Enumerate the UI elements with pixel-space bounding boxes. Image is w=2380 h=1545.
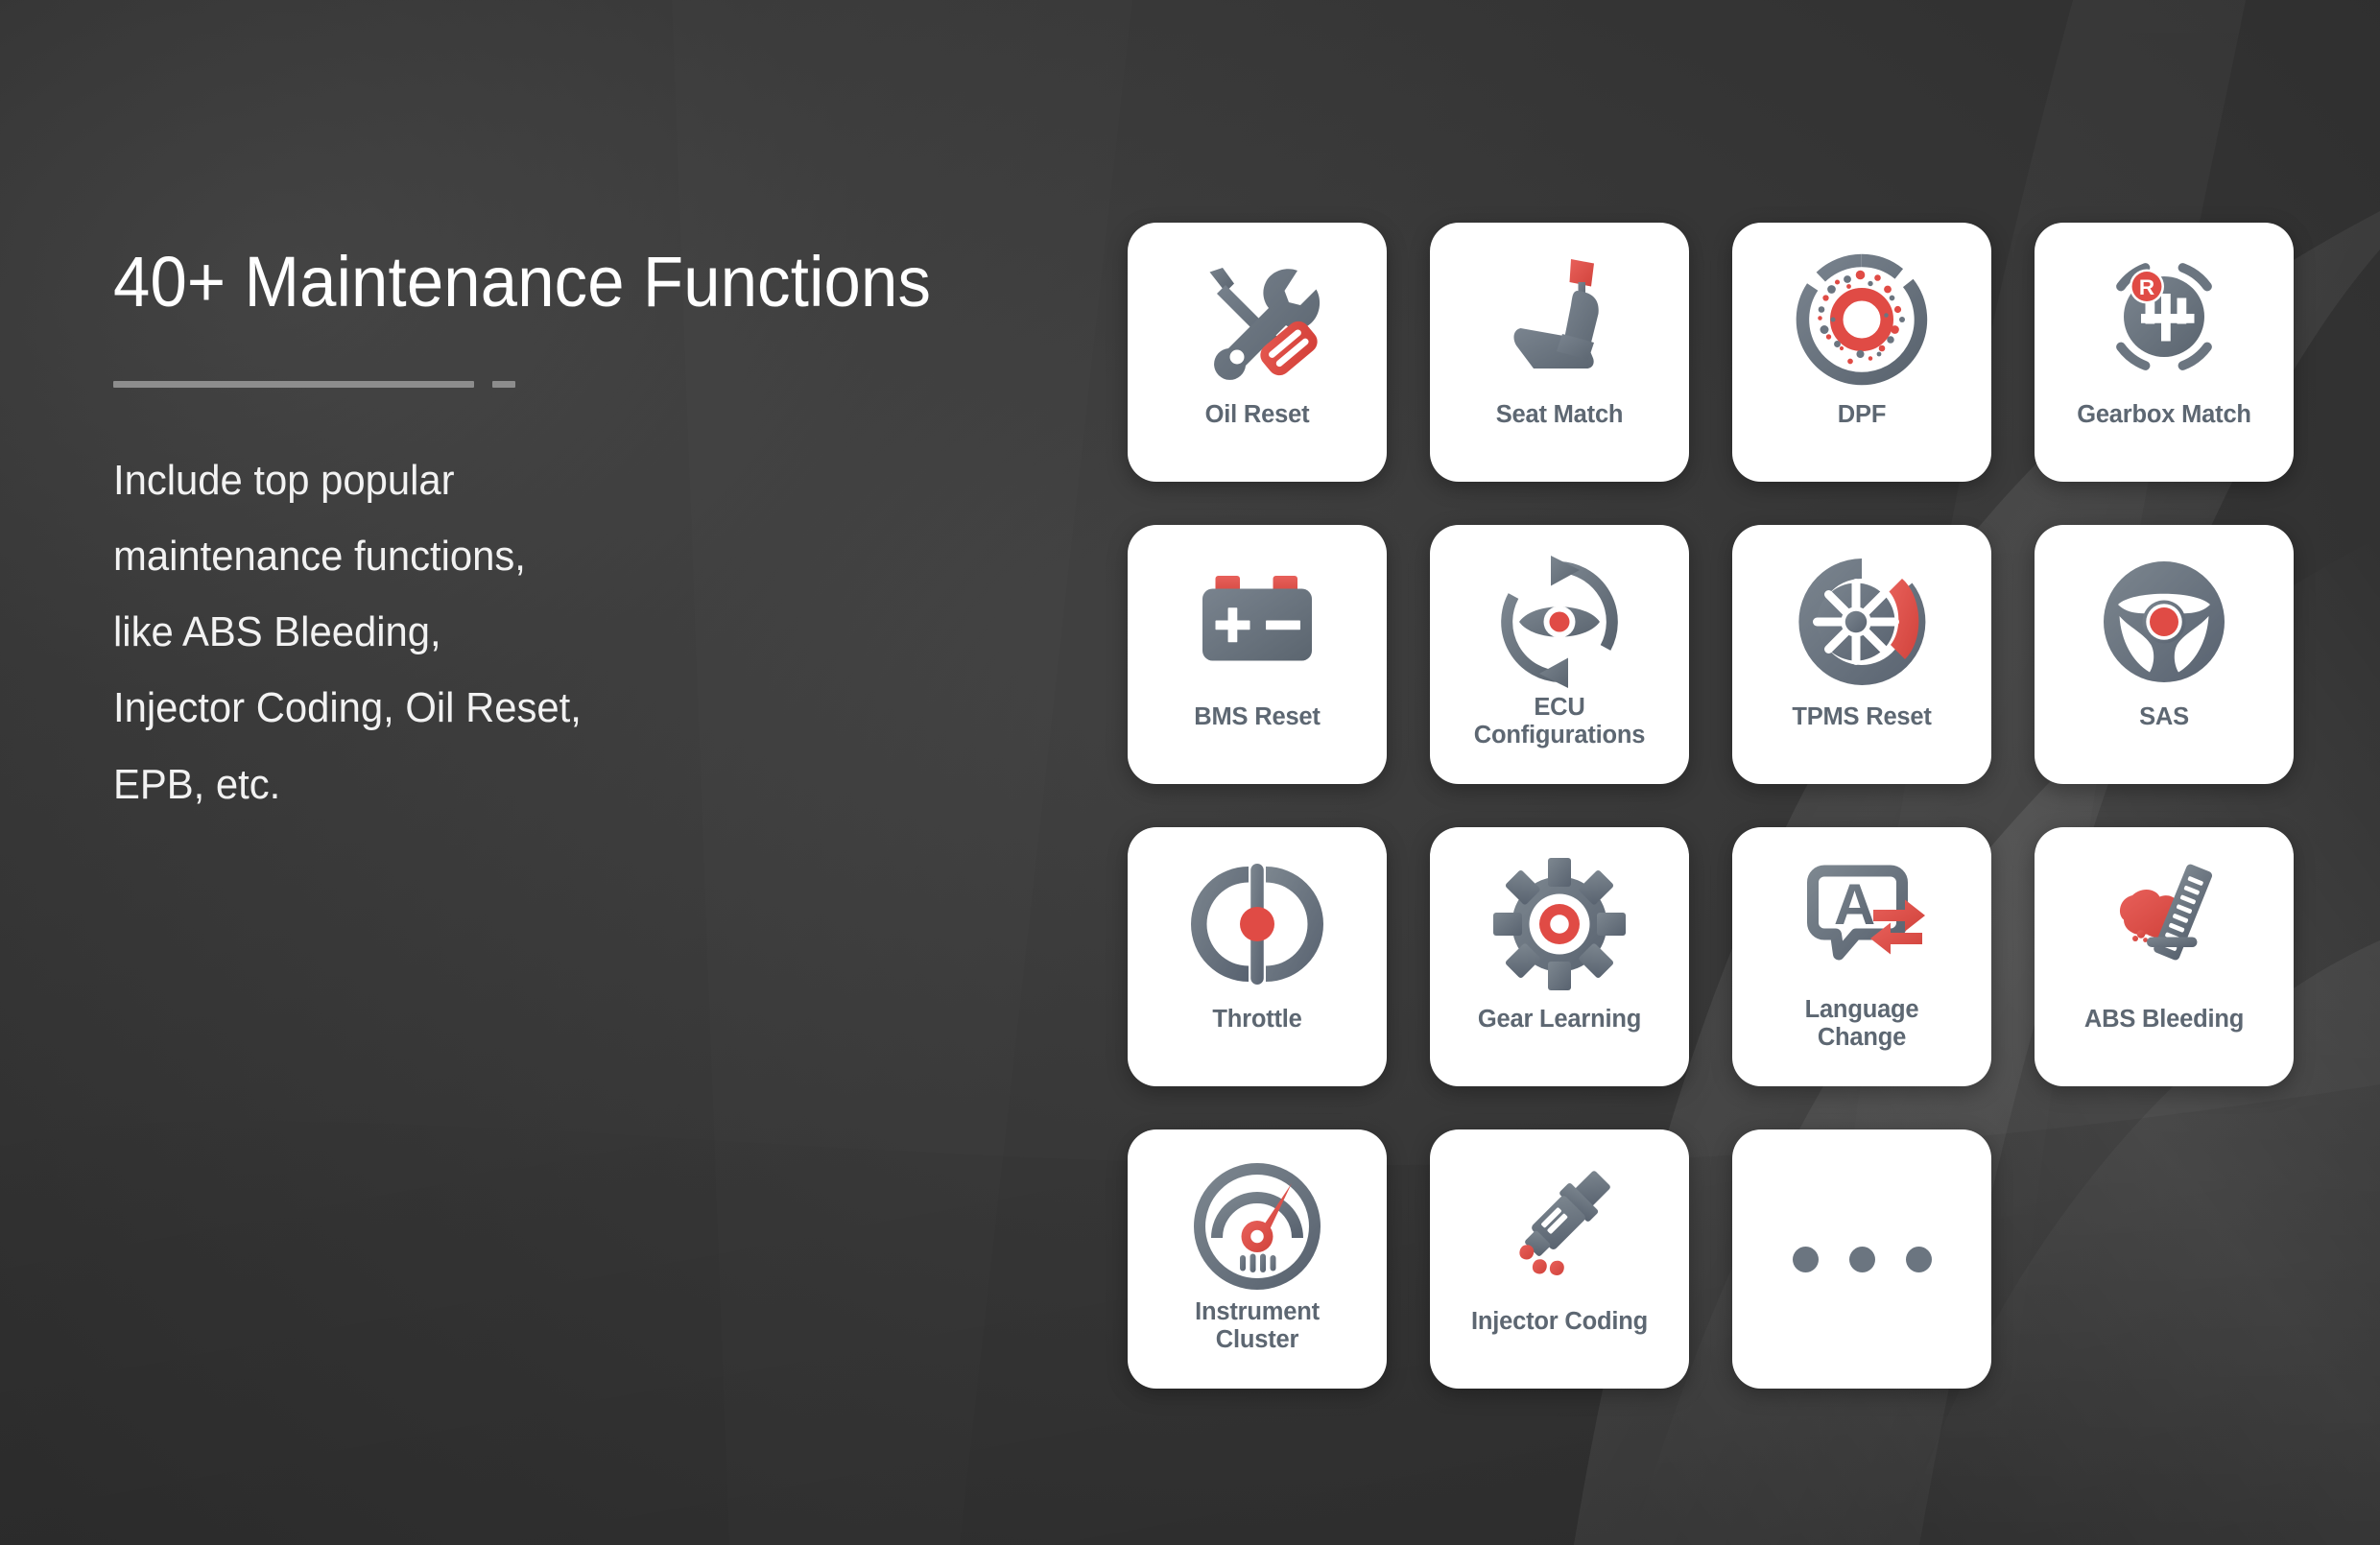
function-card-abs-bleeding[interactable]: ABS Bleeding — [2035, 827, 2294, 1086]
tire-pressure-icon — [1790, 550, 1934, 694]
more-dot-3 — [1906, 1247, 1932, 1272]
more-dot-2 — [1849, 1247, 1875, 1272]
description-line-1: Include top popular — [113, 457, 1025, 504]
function-card-dpf[interactable]: DPF — [1732, 223, 1991, 482]
function-label: Instrument Cluster — [1135, 1298, 1379, 1353]
function-card-bms-reset[interactable]: BMS Reset — [1128, 525, 1387, 784]
car-seat-icon — [1487, 248, 1631, 392]
function-card-injector-coding[interactable]: Injector Coding — [1430, 1129, 1689, 1389]
function-card-gear-learning[interactable]: Gear Learning — [1430, 827, 1689, 1086]
more-dot-1 — [1793, 1247, 1819, 1272]
gear-shift-icon: R — [2092, 248, 2236, 392]
particulate-filter-icon — [1790, 248, 1934, 392]
description-line-4: Injector Coding, Oil Reset, — [113, 684, 1025, 731]
function-card-seat-match[interactable]: Seat Match — [1430, 223, 1689, 482]
function-card-language-change[interactable]: A Language Change — [1732, 827, 1991, 1086]
function-card-gearbox-match[interactable]: R Gearbox Match — [2035, 223, 2294, 482]
function-card-oil-reset[interactable]: Oil Reset — [1128, 223, 1387, 482]
function-label: Gearbox Match — [2042, 401, 2286, 429]
throttle-body-icon — [1185, 852, 1329, 996]
page-title: 40+ Maintenance Functions — [113, 245, 1006, 320]
eye-refresh-icon — [1487, 550, 1631, 694]
more-dots-icon — [1732, 1247, 1991, 1272]
function-label: ABS Bleeding — [2042, 1006, 2286, 1034]
function-label: ECU Configurations — [1438, 694, 1681, 749]
svg-text:A: A — [1834, 872, 1875, 937]
intro-panel: 40+ Maintenance Functions Include top po… — [113, 245, 1073, 808]
function-label: SAS — [2042, 703, 2286, 731]
description-line-3: like ABS Bleeding, — [113, 608, 1025, 655]
gauge-icon — [1185, 1154, 1329, 1298]
function-card-instrument-cluster[interactable]: Instrument Cluster — [1128, 1129, 1387, 1389]
function-label: TPMS Reset — [1740, 703, 1984, 731]
description-text: Include top popular maintenance function… — [113, 457, 1073, 808]
svg-text:R: R — [2139, 275, 2154, 299]
function-grid: Oil Reset Seat Match — [1128, 223, 2294, 1389]
function-label: Language Change — [1740, 996, 1984, 1051]
function-card-more[interactable] — [1732, 1129, 1991, 1389]
function-label: Oil Reset — [1135, 401, 1379, 429]
function-label: Seat Match — [1438, 401, 1681, 429]
function-card-throttle[interactable]: Throttle — [1128, 827, 1387, 1086]
speech-bubble-a-icon: A — [1790, 852, 1934, 996]
steering-wheel-icon — [2092, 550, 2236, 694]
brake-pad-dust-icon — [2092, 852, 2236, 996]
fuel-injector-icon — [1487, 1154, 1631, 1298]
function-label: BMS Reset — [1135, 703, 1379, 731]
function-label: DPF — [1740, 401, 1984, 429]
description-line-2: maintenance functions, — [113, 533, 1025, 580]
wrench-oil-filter-icon — [1185, 248, 1329, 392]
function-label: Injector Coding — [1438, 1308, 1681, 1336]
cog-icon — [1487, 852, 1631, 996]
description-line-5: EPB, etc. — [113, 761, 1025, 808]
divider-short-segment — [492, 381, 515, 388]
divider-long-segment — [113, 381, 474, 388]
function-label: Gear Learning — [1438, 1006, 1681, 1034]
function-label: Throttle — [1135, 1006, 1379, 1034]
function-card-sas[interactable]: SAS — [2035, 525, 2294, 784]
battery-icon — [1185, 550, 1329, 694]
function-card-tpms-reset[interactable]: TPMS Reset — [1732, 525, 1991, 784]
title-divider — [113, 381, 1073, 388]
function-card-ecu-configurations[interactable]: ECU Configurations — [1430, 525, 1689, 784]
